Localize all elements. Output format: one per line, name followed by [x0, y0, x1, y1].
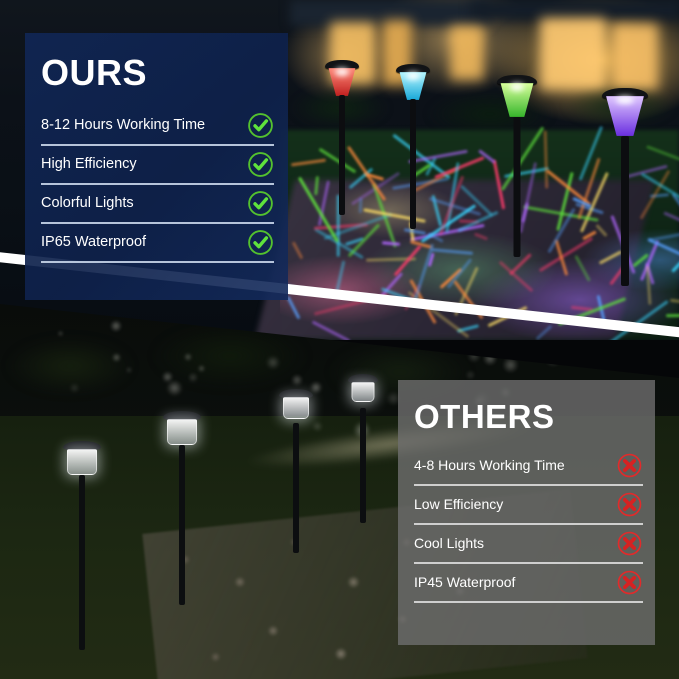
- bokeh-dot: [465, 370, 475, 380]
- others-divider: [414, 562, 643, 564]
- bokeh-dot: [184, 353, 192, 361]
- ours-panel: OURS 8-12 Hours Working Time High Effici…: [25, 33, 288, 300]
- others-divider: [414, 601, 643, 603]
- green-check-circle-icon: [247, 112, 274, 139]
- bokeh-dot: [483, 351, 498, 366]
- red-x-circle-icon: [616, 491, 643, 518]
- bokeh-dot: [162, 371, 173, 382]
- light-ray: [649, 228, 679, 242]
- light-ray: [474, 232, 488, 240]
- bokeh-dot: [188, 372, 198, 382]
- lamp-pole: [79, 475, 85, 650]
- red-x-circle-icon: [616, 569, 643, 596]
- ours-feature-label: IP65 Waterproof: [41, 234, 146, 252]
- ours-title: OURS: [41, 55, 274, 91]
- ours-feature-label: High Efficiency: [41, 156, 137, 174]
- light-ray: [291, 159, 326, 167]
- light-ray: [670, 298, 679, 306]
- light-ray: [287, 296, 301, 319]
- lamp-spark: [335, 68, 349, 76]
- ours-divider: [41, 144, 274, 146]
- light-ray: [382, 241, 400, 246]
- bokeh-dot: [198, 365, 204, 371]
- light-ray: [579, 127, 603, 182]
- red-x-circle-icon: [616, 452, 643, 479]
- light-ray: [501, 126, 545, 191]
- others-feature-row: IP45 Waterproof: [414, 566, 643, 599]
- lamp-glass: [352, 382, 375, 402]
- others-divider: [414, 484, 643, 486]
- lamp-glass: [283, 397, 309, 419]
- light-ray: [539, 237, 593, 272]
- light-ray: [672, 193, 679, 252]
- lamp-pole: [179, 445, 185, 605]
- lamp-spark: [406, 72, 420, 80]
- green-check-circle-icon: [247, 229, 274, 256]
- light-ray: [359, 198, 363, 213]
- others-feature-label: Low Efficiency: [414, 496, 503, 513]
- lamp-pole: [360, 408, 366, 523]
- red-x-circle-icon: [616, 530, 643, 557]
- ours-feature-row: Colorful Lights: [41, 187, 274, 220]
- ours-divider: [41, 183, 274, 185]
- light-ray: [435, 156, 485, 179]
- light-ray: [394, 245, 422, 277]
- lamp-glass: [167, 419, 197, 445]
- others-divider: [414, 523, 643, 525]
- light-ray: [646, 145, 679, 166]
- others-title: OTHERS: [414, 400, 643, 433]
- ours-divider: [41, 222, 274, 224]
- light-ray: [312, 320, 351, 340]
- light-ray: [598, 250, 621, 264]
- others-feature-label: IP45 Waterproof: [414, 574, 515, 591]
- lamp-pole: [410, 99, 416, 229]
- others-feature-row: 4-8 Hours Working Time: [414, 449, 643, 482]
- ours-divider: [41, 261, 274, 263]
- light-ray: [430, 248, 472, 255]
- ours-feature-row: High Efficiency: [41, 148, 274, 181]
- light-ray: [546, 169, 591, 205]
- ours-feature-row: IP65 Waterproof: [41, 226, 274, 259]
- lamp-pole: [339, 95, 345, 215]
- light-ray: [544, 130, 549, 188]
- light-ray: [666, 314, 679, 317]
- bokeh-dot: [291, 374, 304, 387]
- others-feature-row: Cool Lights: [414, 527, 643, 560]
- product-comparison-image: OURS 8-12 Hours Working Time High Effici…: [0, 0, 679, 679]
- light-ray: [536, 324, 553, 340]
- house-roof-right: [470, 0, 679, 20]
- green-check-circle-icon: [247, 190, 274, 217]
- bokeh-dot: [502, 357, 518, 373]
- light-ray: [292, 242, 304, 260]
- light-ray: [595, 224, 607, 237]
- lamp-pole: [621, 136, 629, 286]
- lamp-pole: [514, 117, 521, 257]
- others-feature-label: 4-8 Hours Working Time: [414, 457, 565, 474]
- bokeh-dot: [69, 383, 80, 394]
- ours-feature-row: 8-12 Hours Working Time: [41, 109, 274, 142]
- bokeh-dot: [544, 350, 561, 367]
- bokeh-dot: [310, 381, 322, 393]
- light-ray: [315, 176, 320, 195]
- light-ray: [672, 260, 679, 272]
- ours-feature-label: Colorful Lights: [41, 195, 134, 213]
- others-feature-row: Low Efficiency: [414, 488, 643, 521]
- lamp-spark: [616, 96, 634, 104]
- lamp-spark: [510, 83, 524, 91]
- others-feature-label: Cool Lights: [414, 535, 484, 552]
- house-window: [450, 26, 484, 80]
- others-panel: OTHERS 4-8 Hours Working Time Low Effici…: [398, 380, 655, 645]
- lamp-glass: [67, 449, 97, 475]
- green-check-circle-icon: [247, 151, 274, 178]
- light-ray: [575, 255, 592, 282]
- ours-feature-label: 8-12 Hours Working Time: [41, 117, 205, 135]
- lamp-pole: [293, 423, 299, 553]
